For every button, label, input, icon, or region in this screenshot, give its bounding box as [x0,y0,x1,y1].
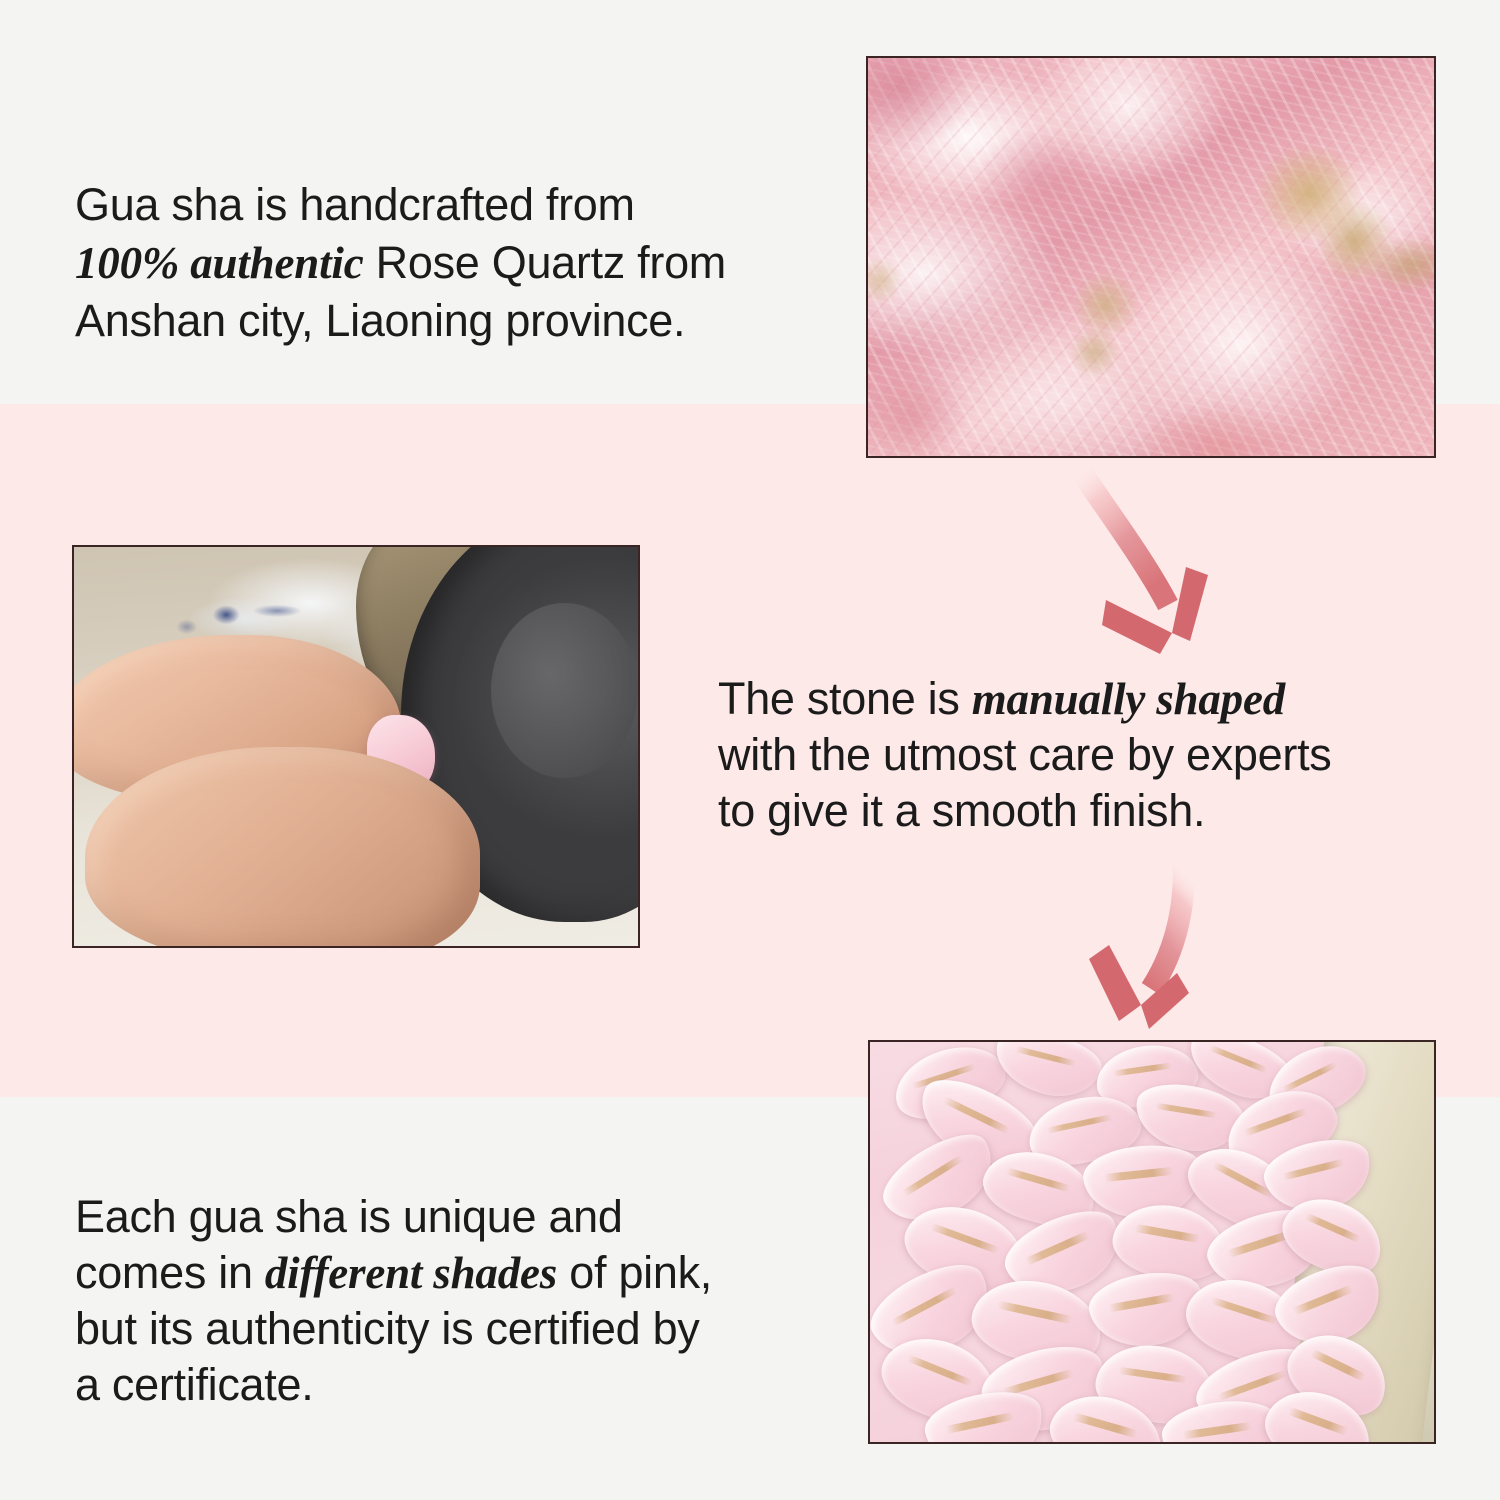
shaping-copy-block: The stone is manually shaped with the ut… [718,671,1331,839]
shaping-copy-line-3: to give it a smooth finish. [718,783,1331,839]
manual-shaping-photo [72,545,640,948]
unique-copy-line-1: Each gua sha is unique and [75,1189,712,1245]
origin-copy-line-1: Gua sha is handcrafted from [75,176,726,234]
grinder-hub [491,603,638,779]
raw-rose-quartz-photo [866,56,1436,458]
shaping-emphasis-manually-shaped: manually shaped [972,674,1285,724]
unique-copy-line-2-tail: of pink, [557,1247,712,1298]
curved-arrow-step-one-to-two [1060,455,1300,670]
unique-copy-line-4: a certificate. [75,1357,712,1413]
unique-emphasis-different-shades: different shades [265,1248,557,1298]
origin-emphasis-authentic: 100% authentic [75,238,363,288]
shaping-copy-line-1-head: The stone is [718,673,972,724]
lower-hand [85,747,480,949]
shaping-copy-line-1: The stone is manually shaped [718,671,1331,727]
unique-copy-line-3: but its authenticity is certified by [75,1301,712,1357]
origin-copy-line-2: 100% authentic Rose Quartz from [75,234,726,292]
unique-copy-block: Each gua sha is unique and comes in diff… [75,1189,712,1413]
origin-copy-line-3: Anshan city, Liaoning province. [75,292,726,350]
origin-copy-block: Gua sha is handcrafted from 100% authent… [75,176,726,350]
unique-copy-line-2-head: comes in [75,1247,265,1298]
curved-arrow-step-two-to-three [1055,845,1300,1060]
finished-gua-sha-photo [868,1040,1436,1444]
infographic-page: Gua sha is handcrafted from 100% authent… [0,0,1500,1500]
shaping-copy-line-2: with the utmost care by experts [718,727,1331,783]
unique-copy-line-2: comes in different shades of pink, [75,1245,712,1301]
quartz-gold-inclusions [868,58,1434,456]
origin-copy-line-2-tail: Rose Quartz from [363,237,726,288]
